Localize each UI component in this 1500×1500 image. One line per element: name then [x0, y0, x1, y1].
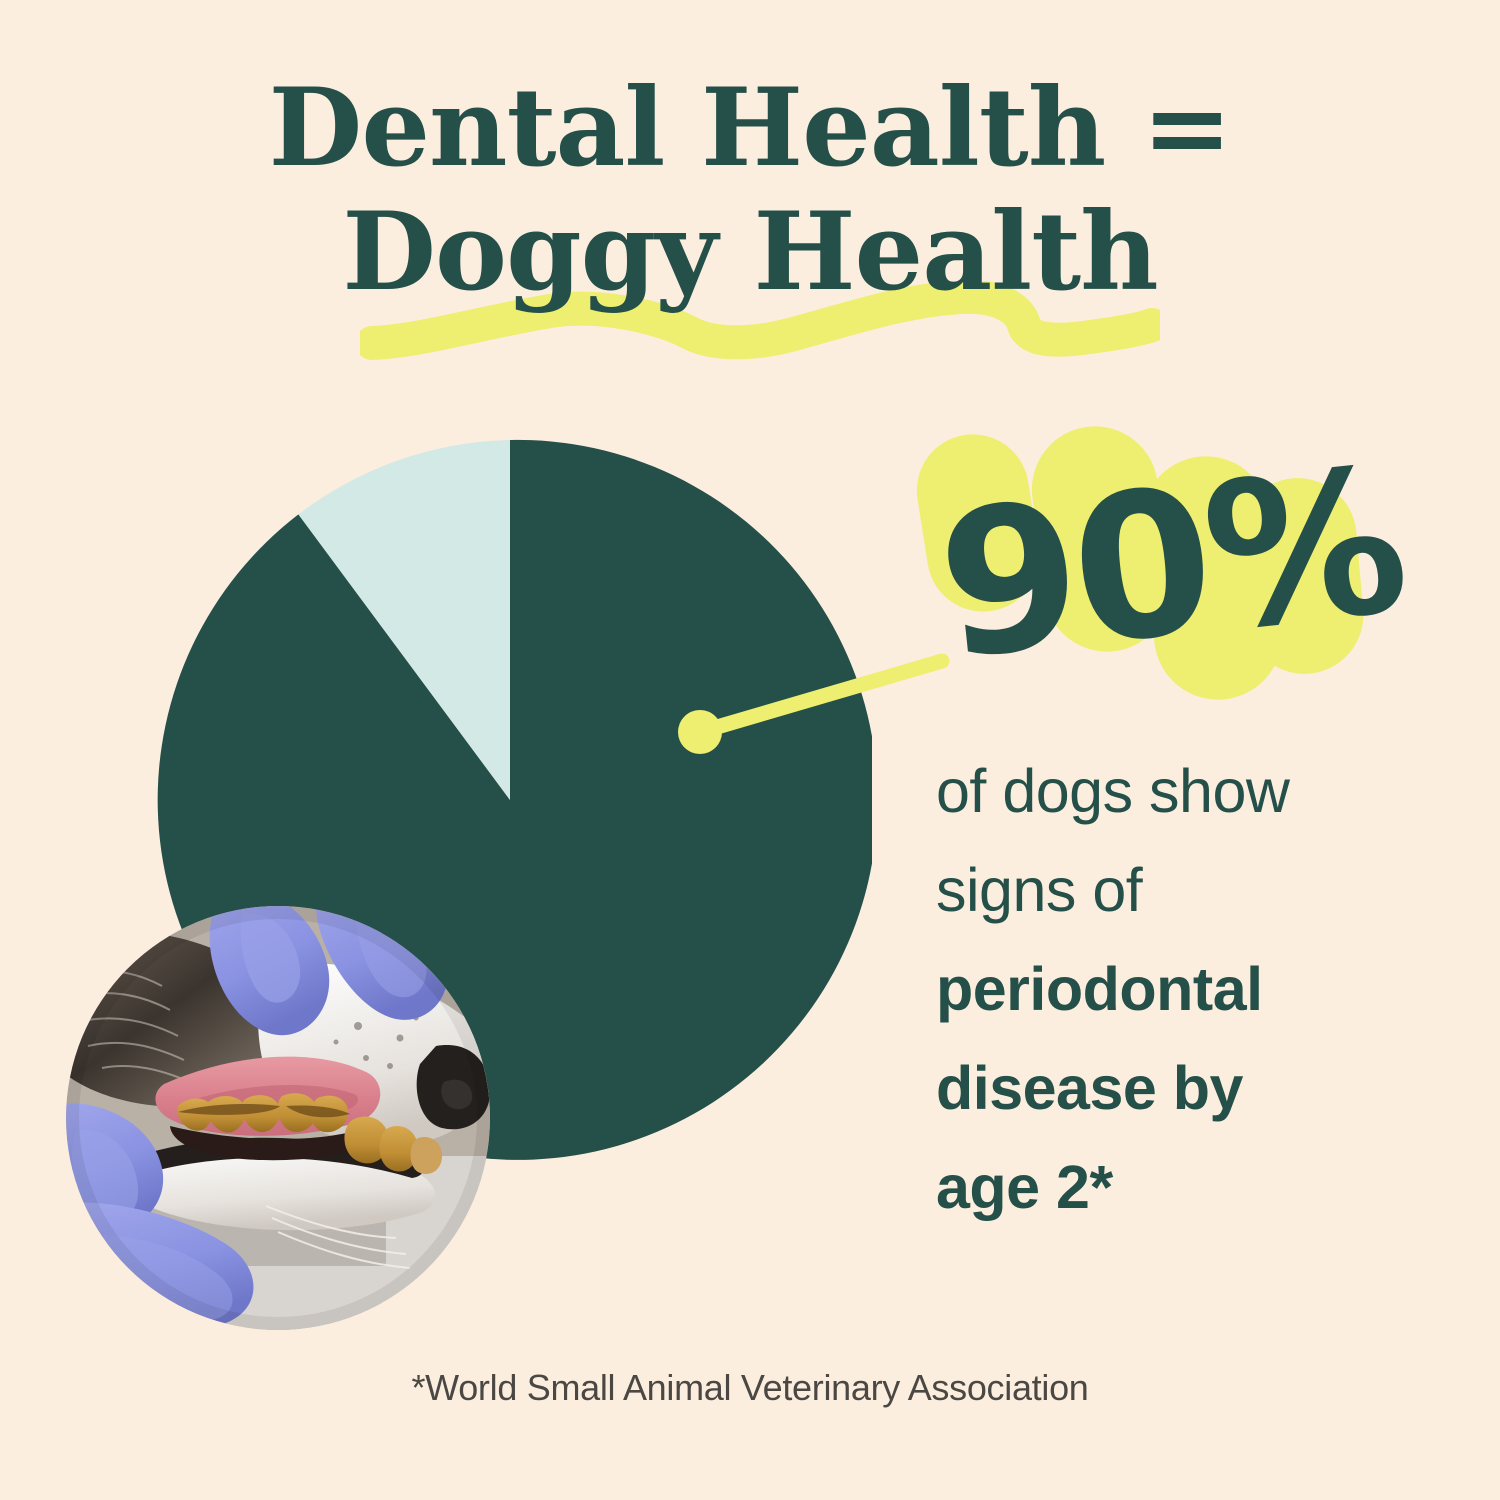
- footnote-source: *World Small Animal Veterinary Associati…: [0, 1366, 1500, 1410]
- description-line-4: disease by: [936, 1039, 1406, 1138]
- description-line-2: signs of: [936, 841, 1406, 940]
- description-line-5: age 2*: [936, 1138, 1406, 1237]
- stat-description: of dogs show signs of periodontal diseas…: [936, 742, 1406, 1237]
- title-line-1: Dental Health =: [0, 66, 1500, 190]
- page-title: Dental Health = Doggy Health: [0, 66, 1500, 314]
- stat-value: 90%: [931, 441, 1410, 688]
- title-line-2: Doggy Health: [342, 190, 1157, 314]
- stat-value-wrap: 90%: [912, 420, 1382, 710]
- stat-callout: 90%: [912, 420, 1382, 710]
- description-line-1: of dogs show: [936, 742, 1406, 841]
- infographic-canvas: Dental Health = Doggy Health: [0, 0, 1500, 1500]
- description-line-3: periodontal: [936, 940, 1406, 1039]
- dog-dental-exam-photo-icon: [66, 906, 490, 1330]
